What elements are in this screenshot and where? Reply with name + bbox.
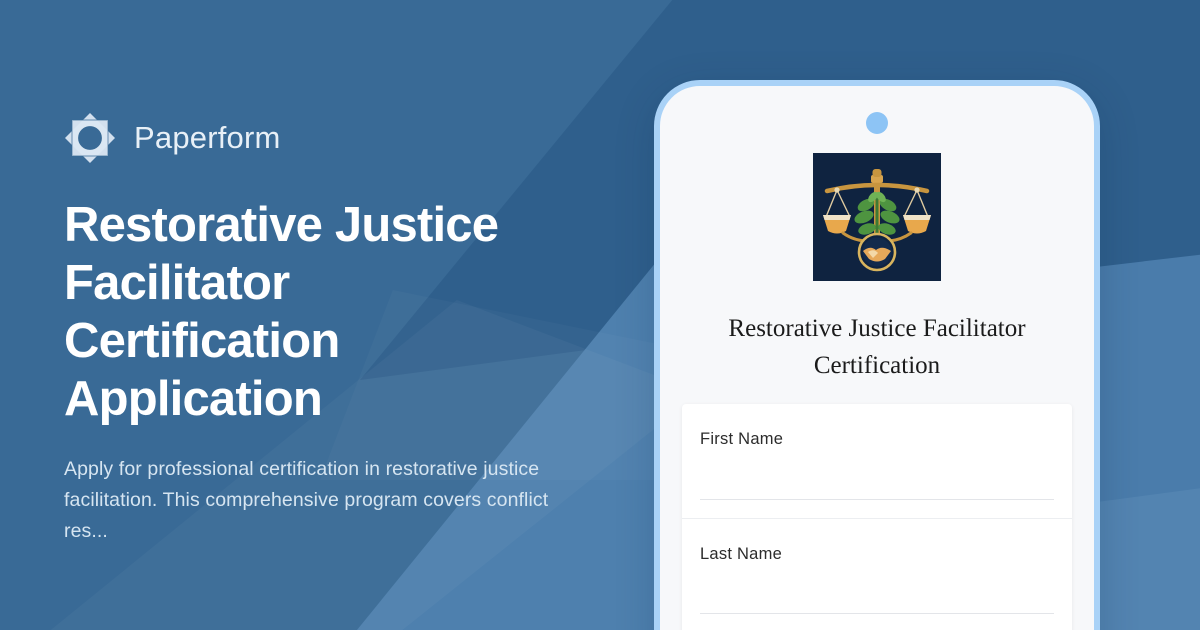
form-card: First Name Last Name	[682, 404, 1072, 630]
form-title: Restorative Justice Facilitator Certific…	[660, 310, 1094, 384]
field-label-last-name: Last Name	[700, 545, 1054, 564]
page-description: Apply for professional certification in …	[64, 454, 559, 547]
form-field-first-name[interactable]: First Name	[682, 404, 1072, 518]
page-title: Restorative Justice Facilitator Certific…	[64, 196, 564, 428]
justice-scales-olive-branch-handshake-icon	[813, 153, 941, 281]
brand-name: Paperform	[134, 120, 281, 156]
paperform-star-logo-icon	[64, 112, 116, 164]
form-field-last-name[interactable]: Last Name	[682, 518, 1072, 630]
field-label-first-name: First Name	[700, 430, 1054, 449]
brand-lockup: Paperform	[64, 112, 604, 164]
hero-content: Paperform Restorative Justice Facilitato…	[64, 112, 604, 547]
field-underline	[700, 499, 1054, 500]
camera-dot-icon	[866, 112, 888, 134]
phone-mockup: Restorative Justice Facilitator Certific…	[654, 80, 1100, 630]
field-underline	[700, 613, 1054, 614]
